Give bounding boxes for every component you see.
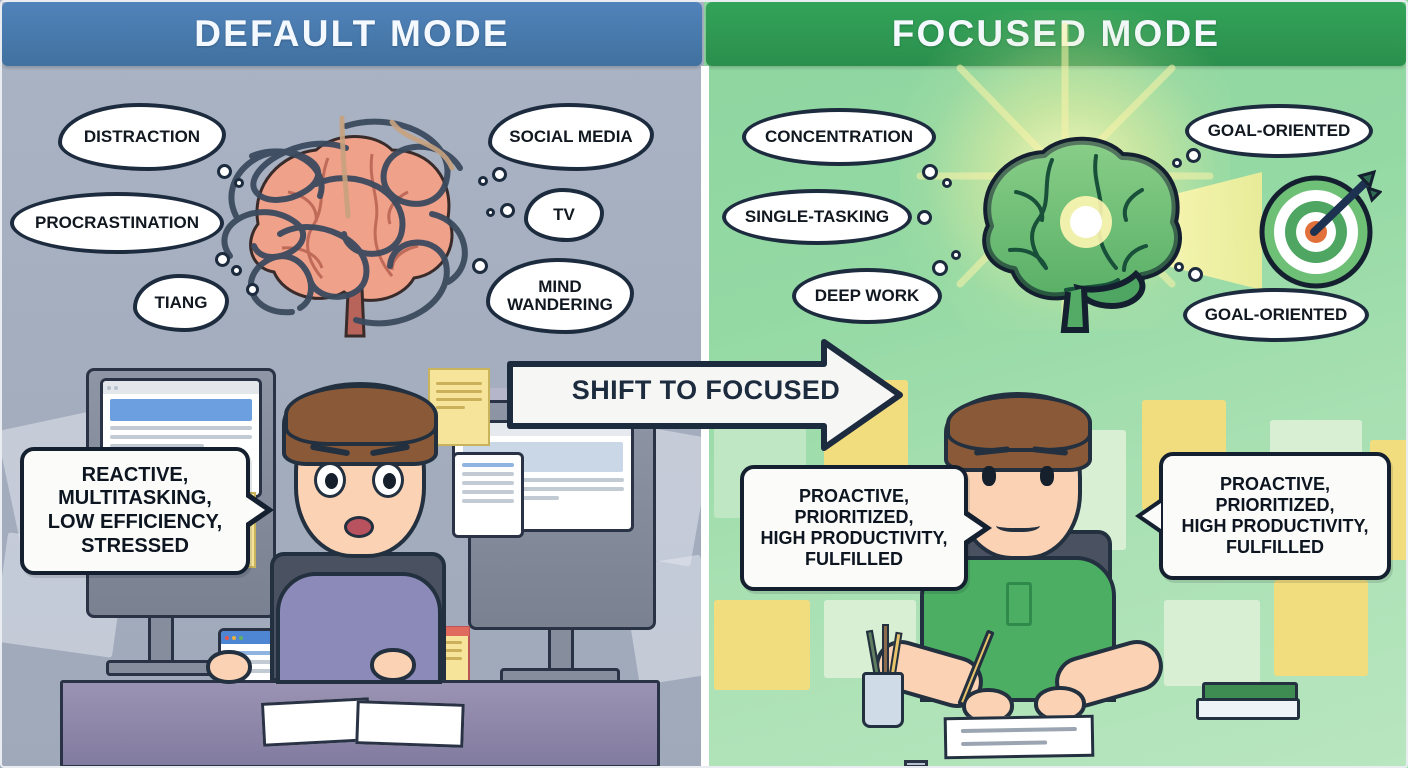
thought-bubble-tv: TV xyxy=(524,188,604,242)
thought-dot xyxy=(231,265,242,276)
thought-dot xyxy=(234,178,244,188)
focused-caption-right: PROACTIVE, PRIORITIZED, HIGH PRODUCTIVIT… xyxy=(1159,452,1391,580)
thought-bubble-mind-wandering: MIND WANDERING xyxy=(486,258,634,334)
thought-dot xyxy=(1174,262,1184,272)
person-hand-right xyxy=(370,648,416,682)
caption-line: HIGH PRODUCTIVITY, xyxy=(1181,516,1368,537)
thought-dot xyxy=(951,250,961,260)
desk-paper xyxy=(944,715,1095,760)
person-eye-left xyxy=(982,466,996,486)
pencil xyxy=(882,624,889,676)
thought-dot xyxy=(1172,158,1182,168)
bubble-text: DEEP WORK xyxy=(815,287,920,305)
book-pages xyxy=(1196,698,1300,720)
default-mode-caption: REACTIVE, MULTITASKING, LOW EFFICIENCY, … xyxy=(20,447,250,575)
monitor-base xyxy=(106,660,218,676)
caption-line: PROACTIVE, xyxy=(760,486,947,507)
desk-leg xyxy=(904,760,928,768)
thought-dot xyxy=(486,208,495,217)
thought-dot xyxy=(246,283,259,296)
bubble-text: SINGLE-TASKING xyxy=(745,208,889,226)
thought-dot xyxy=(217,164,232,179)
thought-dot xyxy=(1186,148,1201,163)
person-hair-top xyxy=(284,384,438,446)
person-eye-right xyxy=(1040,466,1054,486)
thought-bubble-goal-oriented-top: GOAL-ORIENTED xyxy=(1185,104,1373,158)
caption-tail-inner xyxy=(964,515,983,541)
caption-line: FULFILLED xyxy=(1181,537,1368,558)
thought-bubble-procrastination: PROCRASTINATION xyxy=(10,192,224,254)
thought-bubble-social-media: SOCIAL MEDIA xyxy=(488,103,654,171)
bubble-text: CONCENTRATION xyxy=(765,128,913,146)
thought-dot xyxy=(492,167,507,182)
thought-bubble-distraction: DISTRACTION xyxy=(58,103,226,171)
person-hair-top xyxy=(946,394,1092,452)
wall-tile xyxy=(1164,600,1260,686)
thought-bubble-goal-oriented-bottom: GOAL-ORIENTED xyxy=(1183,288,1369,342)
thought-dot xyxy=(472,258,488,274)
caption-tail-inner xyxy=(246,497,265,523)
thought-dot xyxy=(478,176,488,186)
caption-line: FULFILLED xyxy=(760,549,947,570)
caption-line: PROACTIVE, xyxy=(1181,474,1368,495)
caption-line: REACTIVE, xyxy=(48,464,222,488)
bullseye-target-icon xyxy=(1256,166,1382,292)
person-mouth-worried xyxy=(344,516,374,538)
thought-dot xyxy=(922,164,938,180)
thought-dot xyxy=(932,260,948,276)
thought-bubble-tiang: TIANG xyxy=(133,274,229,332)
bubble-text: SOCIAL MEDIA xyxy=(509,128,632,146)
bubble-text: GOAL-ORIENTED xyxy=(1205,306,1348,324)
bubble-text: GOAL-ORIENTED xyxy=(1208,122,1351,140)
thought-bubble-deep-work: DEEP WORK xyxy=(792,268,942,324)
bubble-text: DISTRACTION xyxy=(84,128,200,146)
thought-bubble-concentration: CONCENTRATION xyxy=(742,108,936,166)
tangled-brain-icon xyxy=(196,96,486,346)
caption-line: PRIORITIZED, xyxy=(760,507,947,528)
person-hand-left xyxy=(206,650,252,684)
thought-dot xyxy=(1188,267,1203,282)
wall-tile xyxy=(1274,580,1368,676)
caption-line: MULTITASKING, xyxy=(48,487,222,511)
person-pupil-right xyxy=(383,473,396,489)
caption-line: LOW EFFICIENCY, xyxy=(48,511,222,535)
thought-dot xyxy=(917,210,932,225)
desk-paper xyxy=(355,700,464,748)
shirt-pocket xyxy=(1006,582,1032,626)
bubble-text: TV xyxy=(553,206,575,224)
thought-bubble-single-tasking: SINGLE-TASKING xyxy=(722,189,912,245)
thought-dot xyxy=(500,203,515,218)
default-mode-title: DEFAULT MODE xyxy=(194,13,510,55)
person-smile xyxy=(996,516,1040,532)
shift-arrow-label: SHIFT TO FOCUSED xyxy=(556,366,856,414)
person-pupil-left xyxy=(325,473,338,489)
caption-tail-inner xyxy=(1142,503,1161,529)
caption-line: STRESSED xyxy=(48,535,222,559)
person-body xyxy=(276,572,442,684)
caption-line: HIGH PRODUCTIVITY, xyxy=(760,528,947,549)
pencil-cup xyxy=(862,672,904,728)
focused-brain-icon xyxy=(946,110,1190,334)
wall-tile xyxy=(714,600,810,690)
thought-dot xyxy=(215,252,230,267)
app-window-list xyxy=(452,452,524,538)
caption-line: PRIORITIZED, xyxy=(1181,495,1368,516)
header-default-mode: DEFAULT MODE xyxy=(2,2,702,66)
bubble-text: MIND WANDERING xyxy=(500,278,620,315)
focused-caption-left: PROACTIVE, PRIORITIZED, HIGH PRODUCTIVIT… xyxy=(740,465,968,591)
infographic-root: DEFAULT MODE xyxy=(0,0,1408,768)
thought-dot xyxy=(942,178,952,188)
window-titlebar xyxy=(103,381,259,394)
bubble-text: TIANG xyxy=(155,294,208,312)
bubble-text: PROCRASTINATION xyxy=(35,214,199,232)
